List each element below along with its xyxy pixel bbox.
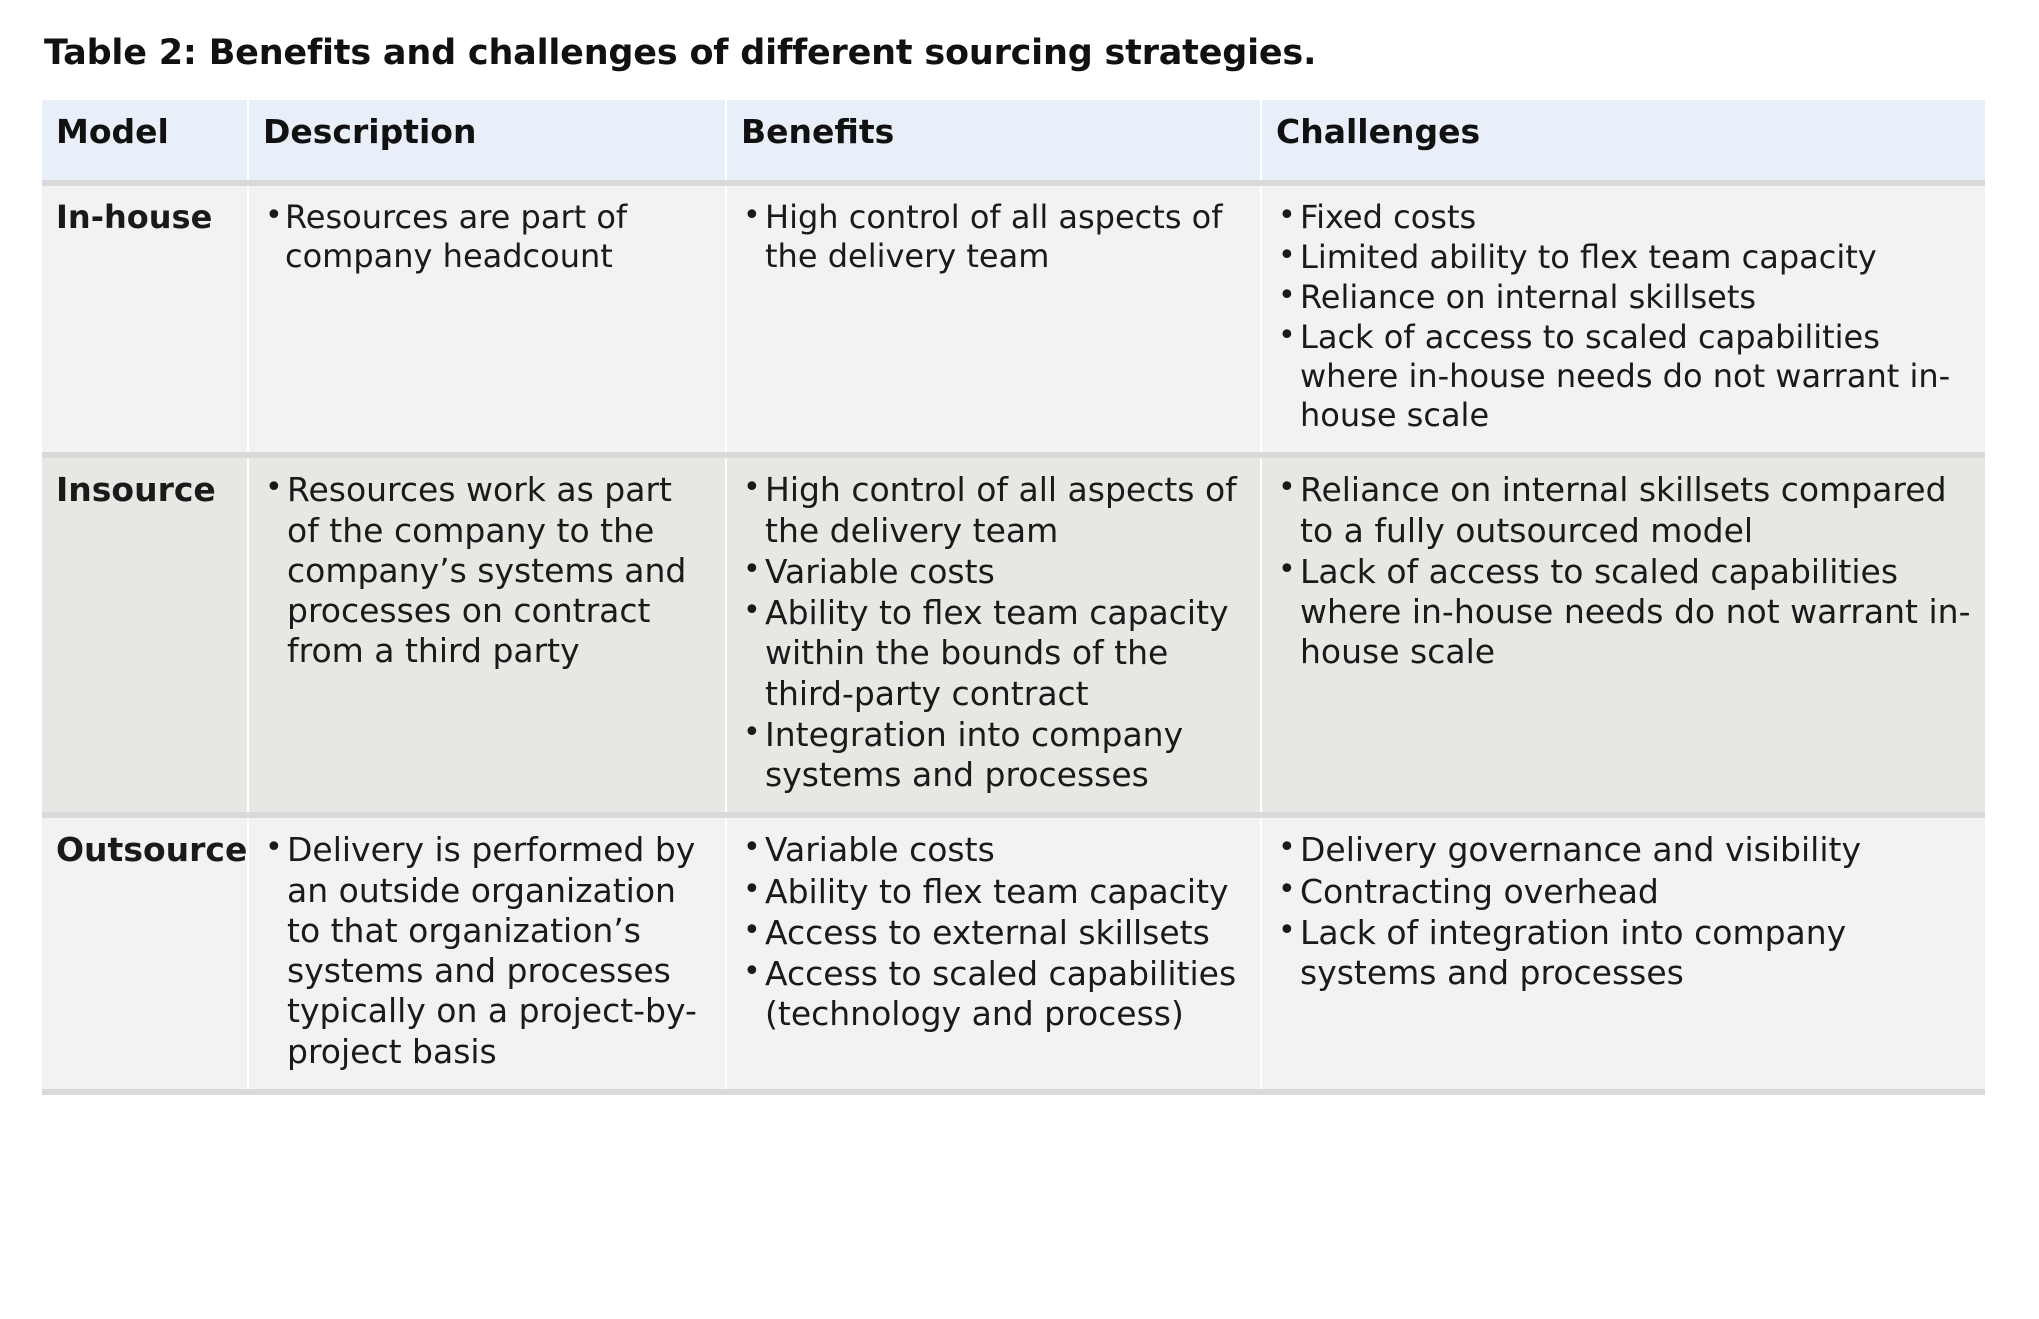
bullet-list: High control of all aspects of the deliv… [741,198,1248,276]
bullet-list: Delivery is performed by an outside orga… [263,830,713,1072]
cell-model: Insource [42,455,248,815]
bullet-list: Resources work as part of the company to… [263,470,713,671]
cell-description: Delivery is performed by an outside orga… [248,815,726,1092]
column-header-benefits: Benefits [726,100,1261,183]
bullet-list: Fixed costs Limited ability to flex team… [1276,198,1973,435]
list-item: Ability to flex team capacity [741,872,1248,912]
list-item: Limited ability to flex team capacity [1276,238,1973,277]
list-item: Lack of access to scaled capabilities wh… [1276,318,1973,435]
list-item: Access to external skillsets [741,913,1248,953]
list-item: Resources work as part of the company to… [263,470,713,671]
bullet-list: Resources are part of company headcount [263,198,713,276]
list-item: Variable costs [741,552,1248,592]
list-item: Reliance on internal skillsets [1276,278,1973,317]
list-item: Ability to flex team capacity within the… [741,593,1248,714]
cell-benefits: Variable costs Ability to flex team capa… [726,815,1261,1092]
table-row: In-house Resources are part of company h… [42,183,1985,455]
list-item: Reliance on internal skillsets compared … [1276,470,1973,551]
cell-challenges: Fixed costs Limited ability to flex team… [1261,183,1985,455]
column-header-challenges: Challenges [1261,100,1985,183]
list-item: Lack of access to scaled capabilities wh… [1276,552,1973,673]
table-page: Table 2: Benefits and challenges of diff… [0,0,2039,1319]
table-row: Insource Resources work as part of the c… [42,455,1985,815]
cell-challenges: Reliance on internal skillsets compared … [1261,455,1985,815]
table-row: Outsource Delivery is performed by an ou… [42,815,1985,1092]
table-body: In-house Resources are part of company h… [42,183,1985,1092]
bullet-list: Delivery governance and visibility Contr… [1276,830,1973,993]
list-item: Delivery is performed by an outside orga… [263,830,713,1072]
bullet-list: High control of all aspects of the deliv… [741,470,1248,795]
cell-model: In-house [42,183,248,455]
list-item: High control of all aspects of the deliv… [741,470,1248,551]
list-item: Variable costs [741,830,1248,870]
list-item: High control of all aspects of the deliv… [741,198,1248,276]
column-header-model: Model [42,100,248,183]
list-item: Fixed costs [1276,198,1973,237]
list-item: Resources are part of company headcount [263,198,713,276]
list-item: Integration into company systems and pro… [741,715,1248,796]
header-row: Model Description Benefits Challenges [42,100,1985,183]
table-caption: Table 2: Benefits and challenges of diff… [44,32,1985,74]
list-item: Lack of integration into company systems… [1276,913,1973,994]
list-item: Access to scaled capabilities (technolog… [741,954,1248,1035]
list-item: Contracting overhead [1276,872,1973,912]
column-header-description: Description [248,100,726,183]
cell-model: Outsource [42,815,248,1092]
cell-challenges: Delivery governance and visibility Contr… [1261,815,1985,1092]
cell-description: Resources are part of company headcount [248,183,726,455]
table-head: Model Description Benefits Challenges [42,100,1985,183]
cell-benefits: High control of all aspects of the deliv… [726,455,1261,815]
sourcing-strategies-table: Model Description Benefits Challenges In… [42,100,1985,1095]
bullet-list: Reliance on internal skillsets compared … [1276,470,1973,672]
bullet-list: Variable costs Ability to flex team capa… [741,830,1248,1034]
cell-description: Resources work as part of the company to… [248,455,726,815]
cell-benefits: High control of all aspects of the deliv… [726,183,1261,455]
list-item: Delivery governance and visibility [1276,830,1973,870]
